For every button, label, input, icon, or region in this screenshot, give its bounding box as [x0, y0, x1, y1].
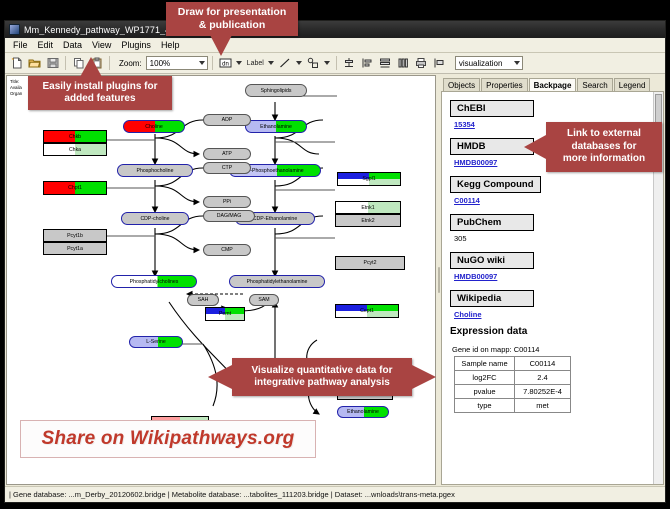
node-ctp[interactable]: CTP — [203, 162, 251, 174]
node-pcyt1a[interactable]: Pcyt1a — [43, 242, 107, 255]
share-text: Share on Wikipathways.org — [42, 428, 295, 450]
node-label: Chka — [69, 147, 81, 153]
node-label: Ethanolamine — [347, 409, 379, 415]
node-adp[interactable]: ADP — [203, 114, 251, 126]
chevron-down-icon — [296, 61, 302, 65]
node-pcyt2[interactable]: Pcyt2 — [335, 256, 405, 270]
node-ethanolamine-bottom[interactable]: Ethanolamine — [337, 406, 389, 418]
backpage-value-pubchem: 305 — [454, 234, 663, 243]
node-label: Phosphatidylcholines — [130, 279, 179, 285]
expr-value: C00114 — [515, 357, 571, 371]
callout-draw-for-presentation: Draw for presentation & publication — [166, 2, 298, 36]
node-label: ADP — [222, 117, 233, 123]
menu-item-view[interactable]: View — [87, 39, 116, 51]
callout-visualize-arrow-left-icon — [208, 363, 234, 391]
snap-icon[interactable] — [431, 55, 448, 72]
callout-visualize-arrow-right-icon — [410, 363, 436, 391]
expr-key: type — [455, 399, 515, 413]
side-panel-tabs: Objects Properties Backpage Search Legen… — [441, 75, 664, 91]
label-dropdown[interactable] — [267, 56, 276, 71]
node-ethanolamine-top[interactable]: Ethanolamine — [245, 120, 307, 133]
node-chkb[interactable]: Chkb — [43, 130, 107, 143]
callout-share-wikipathways: Share on Wikipathways.org — [20, 420, 316, 458]
node-label: Phosphatidylethanolamine — [247, 279, 308, 285]
tab-search[interactable]: Search — [577, 78, 612, 91]
node-label: O-Phosphoethanolamine — [246, 168, 303, 174]
callout-draw-arrow-icon — [206, 35, 236, 57]
node-label: L-Serine — [146, 339, 166, 345]
expr-value: met — [515, 399, 571, 413]
node-sah[interactable]: SAH — [187, 294, 219, 306]
node-etnk1[interactable]: Etnk1 — [335, 201, 401, 214]
line-dropdown[interactable] — [295, 56, 304, 71]
node-label: Etnk1 — [361, 205, 374, 211]
tab-properties[interactable]: Properties — [481, 78, 527, 91]
backpage-heading-kegg: Kegg Compound — [450, 176, 541, 193]
label-tool-label: Label — [245, 60, 266, 67]
expr-key: log2FC — [455, 371, 515, 385]
node-pcyt1b[interactable]: Pcyt1b — [43, 229, 107, 242]
tool-bar: Zoom: 100% dn Label — [5, 53, 665, 74]
callout-install-plugins: Easily install plugins for added feature… — [28, 76, 172, 110]
new-file-icon[interactable] — [8, 55, 25, 72]
svg-text:dn: dn — [222, 61, 229, 67]
node-chpt1[interactable]: Chpt1 — [43, 181, 107, 195]
title-bar: Mm_Kennedy_pathway_WP1771_45176.gpml — [5, 21, 665, 38]
node-label: Choline — [145, 124, 163, 130]
node-label: Ethanolamine — [260, 124, 292, 130]
node-label: Chkb — [44, 134, 106, 140]
backpage-link-kegg[interactable]: C00114 — [454, 196, 663, 205]
table-row: log2FC 2.4 — [455, 371, 571, 385]
menu-item-edit[interactable]: Edit — [33, 39, 59, 51]
shape-icon[interactable] — [305, 55, 322, 72]
align-center-icon[interactable] — [377, 55, 394, 72]
node-sgpl1[interactable]: Sgpl1 — [337, 172, 401, 186]
node-label: Pcyt2 — [364, 260, 377, 266]
backpage-heading-chebi: ChEBI — [450, 100, 534, 117]
tab-backpage[interactable]: Backpage — [529, 78, 577, 92]
screenshot-root: Mm_Kennedy_pathway_WP1771_45176.gpml Fil… — [0, 0, 670, 509]
node-cdp-choline[interactable]: CDP-choline — [121, 212, 189, 225]
chevron-down-icon — [199, 61, 205, 65]
node-label: DAG/MAG — [217, 213, 242, 219]
table-row: type met — [455, 399, 571, 413]
node-choline-top[interactable]: Choline — [123, 120, 185, 133]
visualization-combo[interactable]: visualization — [455, 56, 523, 70]
stack-icon[interactable] — [395, 55, 412, 72]
visualization-value: visualization — [459, 59, 503, 68]
node-label: PPi — [223, 199, 231, 205]
save-icon[interactable] — [44, 55, 61, 72]
node-cmp[interactable]: CMP — [203, 244, 251, 256]
toolbar-separator — [65, 56, 66, 70]
node-sam[interactable]: SAM — [249, 294, 279, 306]
node-l-serine-left[interactable]: L-Serine — [129, 336, 183, 348]
app-icon — [9, 24, 20, 35]
zoom-label: Zoom: — [119, 59, 142, 68]
datanode-dropdown[interactable] — [235, 56, 244, 71]
node-phosphatidylcholines[interactable]: Phosphatidylcholines — [111, 275, 197, 288]
node-etnk2[interactable]: Etnk2 — [335, 214, 401, 227]
node-label: CMP — [221, 247, 233, 253]
menu-bar: File Edit Data View Plugins Help — [5, 38, 665, 53]
callout-links-arrow-icon — [524, 133, 548, 161]
node-label: SAH — [198, 297, 209, 303]
callout-external-links: Link to external databases for more info… — [546, 122, 662, 172]
menu-item-plugins[interactable]: Plugins — [116, 39, 156, 51]
node-label: CDP-Ethanolamine — [253, 216, 297, 222]
node-ppi[interactable]: PPi — [203, 196, 251, 208]
node-cept1[interactable]: Cept1 — [335, 304, 399, 318]
toolbar-separator — [336, 56, 337, 70]
node-label: Chpt1 — [44, 185, 106, 191]
node-phosphocholine[interactable]: Phosphocholine — [117, 164, 193, 177]
datanode-icon[interactable]: dn — [217, 55, 234, 72]
menu-item-file[interactable]: File — [8, 39, 33, 51]
gene-id-line: Gene id on mapp: C00114 — [452, 345, 663, 354]
node-phosphatidylethanolamine[interactable]: Phosphatidylethanolamine — [229, 275, 325, 288]
backpage-heading-hmdb: HMDB — [450, 138, 534, 155]
splitter-grip — [438, 267, 440, 293]
node-label: SAM — [258, 297, 269, 303]
backpage-heading-nugo: NuGO wiki — [450, 252, 534, 269]
backpage-heading-wikipedia: Wikipedia — [450, 290, 534, 307]
chevron-down-icon — [268, 61, 274, 65]
expr-key: pvalue — [455, 385, 515, 399]
callout-visualize-data: Visualize quantitative data for integrat… — [232, 358, 412, 396]
status-bar: | Gene database: ...m_Derby_20120602.bri… — [5, 486, 665, 502]
node-dag-mag[interactable]: DAG/MAG — [203, 210, 255, 222]
node-label: Pcyt1b — [67, 233, 83, 239]
expr-value: 7.80252E-4 — [515, 385, 571, 399]
expr-value: 2.4 — [515, 371, 571, 385]
toolbar-separator — [212, 56, 213, 70]
expression-data-title: Expression data — [450, 326, 663, 337]
expression-table: Sample name C00114 log2FC 2.4 pvalue 7.8… — [454, 356, 571, 413]
toolbar-separator — [109, 56, 110, 70]
chevron-down-icon — [236, 61, 242, 65]
align-left-icon[interactable] — [359, 55, 376, 72]
node-sphingolipids[interactable]: Sphingolipids — [245, 84, 307, 97]
callout-plugins-arrow-icon — [78, 57, 104, 78]
node-label: Pcyt1a — [67, 246, 83, 252]
backpage-heading-pubchem: PubChem — [450, 214, 534, 231]
align-top-icon[interactable] — [341, 55, 358, 72]
zoom-combo[interactable]: 100% — [146, 56, 208, 70]
zoom-value: 100% — [150, 59, 170, 68]
tab-objects[interactable]: Objects — [443, 78, 480, 91]
expr-key: Sample name — [455, 357, 515, 371]
open-folder-icon[interactable] — [26, 55, 43, 72]
node-label: ATP — [222, 151, 232, 157]
table-row: pvalue 7.80252E-4 — [455, 385, 571, 399]
tab-legend[interactable]: Legend — [614, 78, 651, 91]
node-label: CDP-choline — [140, 216, 169, 222]
menu-item-data[interactable]: Data — [58, 39, 87, 51]
print-icon[interactable] — [413, 55, 430, 72]
chevron-down-icon — [324, 61, 330, 65]
node-atp[interactable]: ATP — [203, 148, 251, 160]
node-pemt[interactable]: Pemt — [205, 307, 245, 321]
menu-item-help[interactable]: Help — [156, 39, 185, 51]
backpage-link-nugo[interactable]: HMDB00097 — [454, 272, 663, 281]
shape-dropdown[interactable] — [323, 56, 332, 71]
status-text: | Gene database: ...m_Derby_20120602.bri… — [9, 490, 455, 499]
chevron-down-icon — [514, 61, 520, 65]
node-label: Phosphocholine — [137, 168, 174, 174]
node-chka[interactable]: Chka — [43, 143, 107, 156]
node-label: Sphingolipids — [261, 88, 292, 94]
node-label: CTP — [222, 165, 232, 171]
backpage-link-wikipedia[interactable]: Choline — [454, 310, 663, 319]
node-label: Etnk2 — [361, 218, 374, 224]
line-icon[interactable] — [277, 55, 294, 72]
table-row: Sample name C00114 — [455, 357, 571, 371]
